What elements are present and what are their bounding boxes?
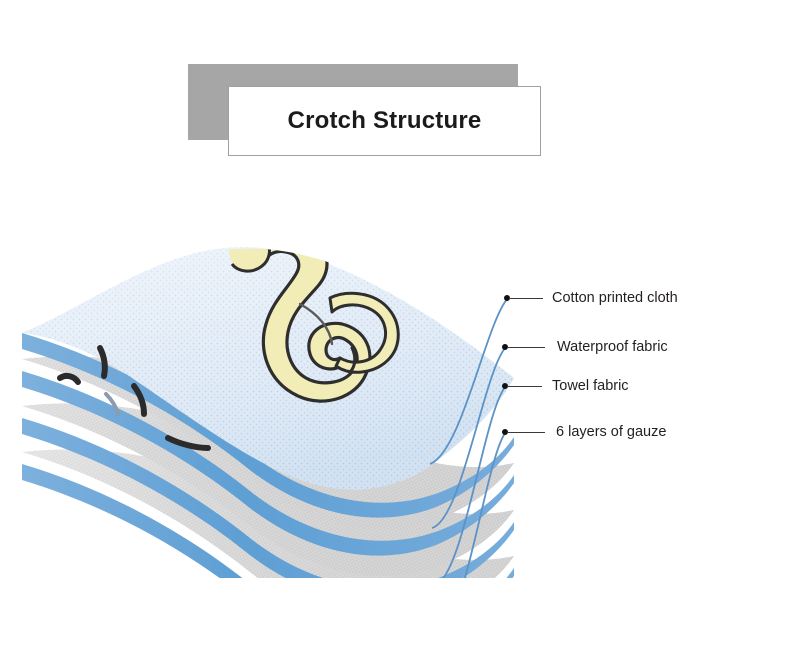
leader-line-cotton-printed-cloth	[509, 298, 543, 299]
leader-line-waterproof-fabric	[507, 347, 545, 348]
callout-label-cotton-printed-cloth[interactable]: Cotton printed cloth	[552, 291, 678, 306]
title-card: Crotch Structure	[228, 86, 541, 156]
callout-label-towel-fabric[interactable]: Towel fabric	[552, 379, 629, 394]
callout-label-6-layers-of-gauze[interactable]: 6 layers of gauze	[556, 425, 666, 440]
leader-line-towel-fabric	[507, 386, 542, 387]
callout-label-waterproof-fabric[interactable]: Waterproof fabric	[557, 340, 668, 355]
leader-line-6-layers-of-gauze	[507, 432, 545, 433]
layer-stack-illustration	[0, 228, 560, 578]
page-title: Crotch Structure	[288, 107, 482, 135]
diagram-canvas: Crotch Structure	[0, 0, 800, 648]
